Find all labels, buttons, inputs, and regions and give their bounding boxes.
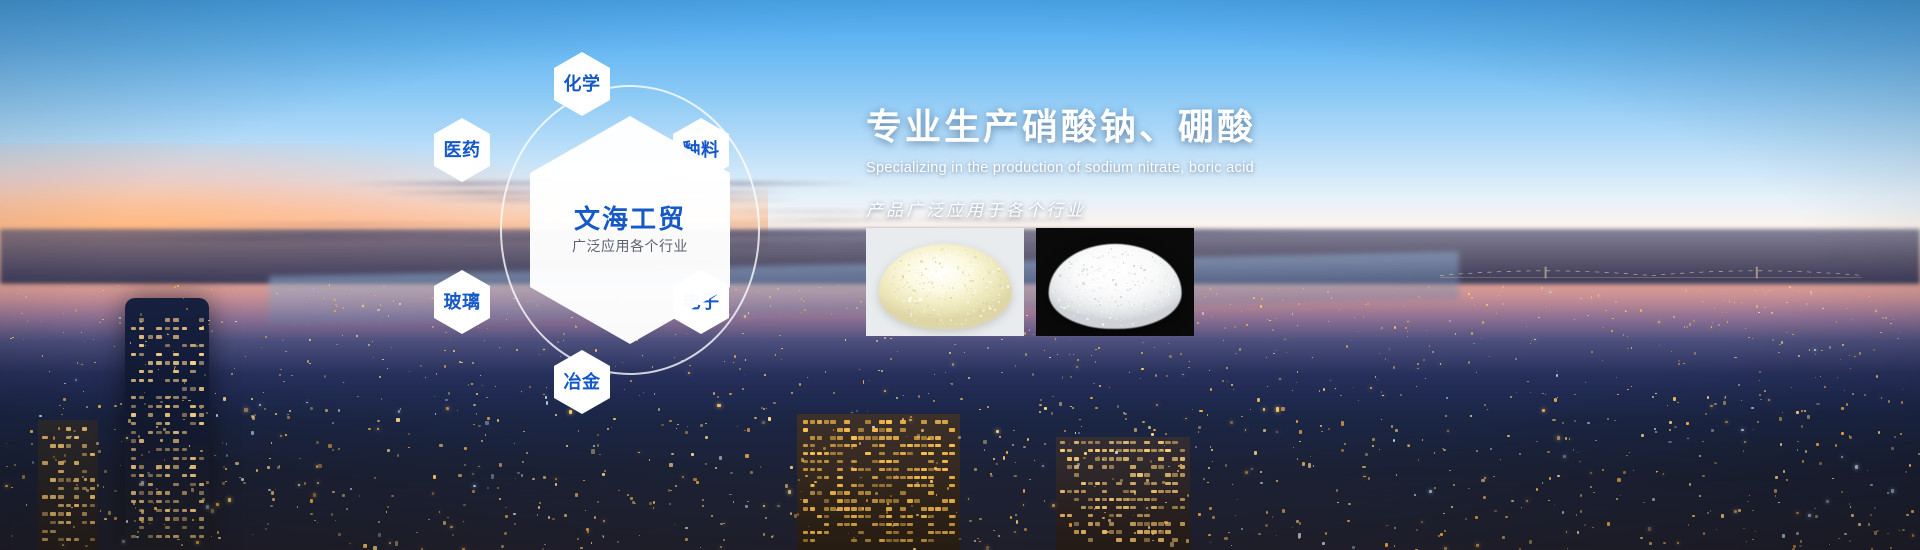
product-photo-sodium-nitrate[interactable] xyxy=(866,228,1024,336)
product-photo-boric-acid[interactable] xyxy=(1036,228,1194,336)
product-photo-group xyxy=(866,228,1194,336)
tagline-text: 产品广泛应用于各个行业 xyxy=(866,196,1626,221)
powder-pile xyxy=(879,244,1012,328)
subheadline-text: Specializing in the production of sodium… xyxy=(866,160,1626,176)
hex-node-glass[interactable]: 玻璃 xyxy=(434,270,490,334)
headline-block: 专业生产硝酸钠、硼酸 Specializing in the productio… xyxy=(866,98,1626,221)
company-tagline: 广泛应用各个行业 xyxy=(572,239,688,254)
hex-node-label: 医药 xyxy=(444,141,481,160)
headline-text: 专业生产硝酸钠、硼酸 xyxy=(866,98,1626,150)
company-name: 文海工贸 xyxy=(574,206,686,233)
hex-node-label: 冶金 xyxy=(564,373,601,392)
hex-node-pharmaceutical[interactable]: 医药 xyxy=(434,118,490,182)
promo-banner: 化学 釉料 电子 冶金 玻璃 医药 文海工贸 广泛应用各个行业 专业生产硝酸钠、… xyxy=(0,0,1920,550)
hex-node-label: 玻璃 xyxy=(444,293,481,312)
hex-node-label: 化学 xyxy=(564,75,601,94)
powder-pile xyxy=(1049,244,1182,328)
industry-hexagon-diagram: 化学 釉料 电子 冶金 玻璃 医药 文海工贸 广泛应用各个行业 xyxy=(430,30,830,430)
